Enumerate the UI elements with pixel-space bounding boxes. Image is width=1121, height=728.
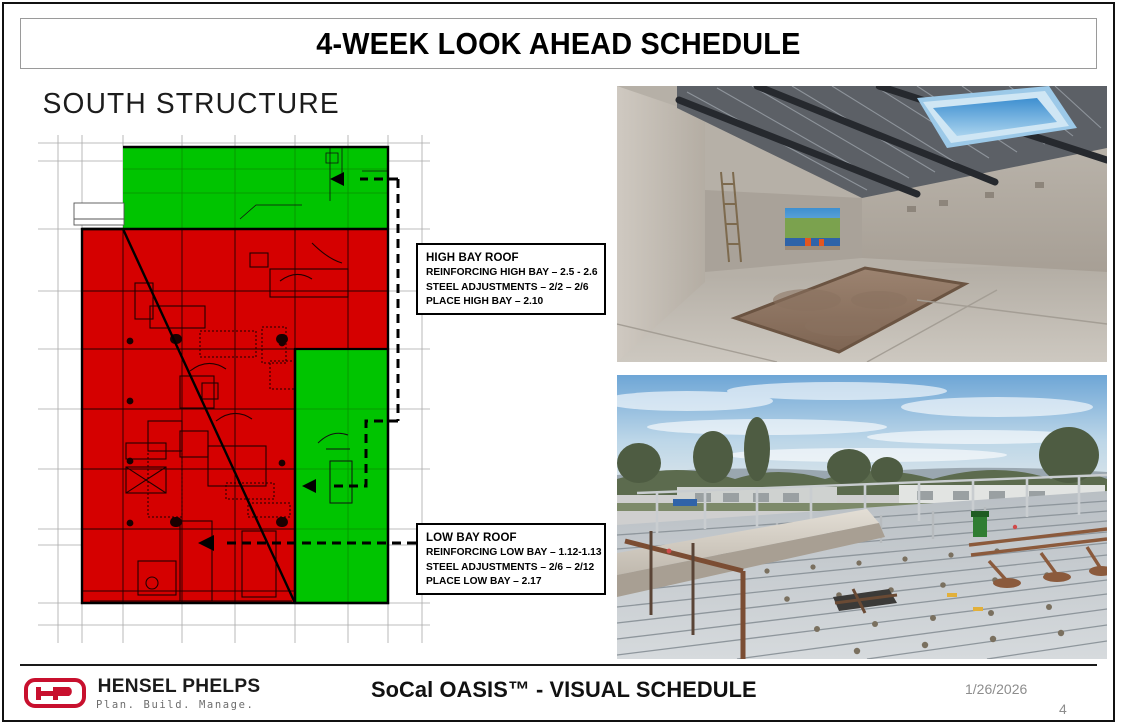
photo-interior-high-bay[interactable] bbox=[617, 86, 1107, 362]
project-title: SoCal OASIS™ - VISUAL SCHEDULE bbox=[371, 677, 757, 703]
callout-low-bay-line-3: PLACE LOW BAY – 2.17 bbox=[426, 575, 597, 589]
callout-low-bay-heading: LOW BAY ROOF bbox=[426, 530, 597, 546]
company-tagline: Plan. Build. Manage. bbox=[96, 699, 262, 711]
photo-roof-deck-overview[interactable] bbox=[617, 375, 1107, 659]
slide-date: 1/26/2026 bbox=[965, 681, 1027, 697]
slide: 4-WEEK LOOK AHEAD SCHEDULE SOUTH STRUCTU… bbox=[2, 2, 1115, 722]
slide-footer: HENSEL PHELPS Plan. Build. Manage. SoCal… bbox=[20, 667, 1097, 720]
callout-high-bay-roof[interactable]: HIGH BAY ROOF REINFORCING HIGH BAY – 2.5… bbox=[416, 243, 606, 315]
company-name: HENSEL PHELPS bbox=[98, 675, 261, 698]
footer-divider bbox=[20, 664, 1097, 666]
callout-low-bay-line-2: STEEL ADJUSTMENTS – 2/6 – 2/12 bbox=[426, 561, 597, 575]
callout-high-bay-line-3: PLACE HIGH BAY – 2.10 bbox=[426, 295, 597, 309]
page-number: 4 bbox=[1059, 701, 1067, 717]
plan-pane: SOUTH STRUCTURE bbox=[20, 76, 600, 654]
page-title: 4-WEEK LOOK AHEAD SCHEDULE bbox=[316, 26, 800, 62]
region-high-bay-roof bbox=[123, 147, 388, 229]
slide-title-box: 4-WEEK LOOK AHEAD SCHEDULE bbox=[20, 18, 1097, 69]
hensel-phelps-wordmark: HENSEL PHELPS Plan. Build. Manage. bbox=[96, 675, 262, 711]
region-low-bay-roof bbox=[295, 349, 388, 603]
callout-low-bay-roof[interactable]: LOW BAY ROOF REINFORCING LOW BAY – 1.12-… bbox=[416, 523, 606, 595]
callout-high-bay-heading: HIGH BAY ROOF bbox=[426, 250, 597, 266]
callout-low-bay-line-1: REINFORCING LOW BAY – 1.12-1.13 bbox=[426, 546, 597, 560]
hp-logo-icon bbox=[24, 678, 86, 708]
section-label: SOUTH STRUCTURE bbox=[43, 88, 340, 121]
callout-high-bay-line-1: REINFORCING HIGH BAY – 2.5 - 2.6 bbox=[426, 266, 597, 280]
hensel-phelps-logo: HENSEL PHELPS Plan. Build. Manage. bbox=[24, 675, 314, 715]
callout-high-bay-line-2: STEEL ADJUSTMENTS – 2/2 – 2/6 bbox=[426, 281, 597, 295]
